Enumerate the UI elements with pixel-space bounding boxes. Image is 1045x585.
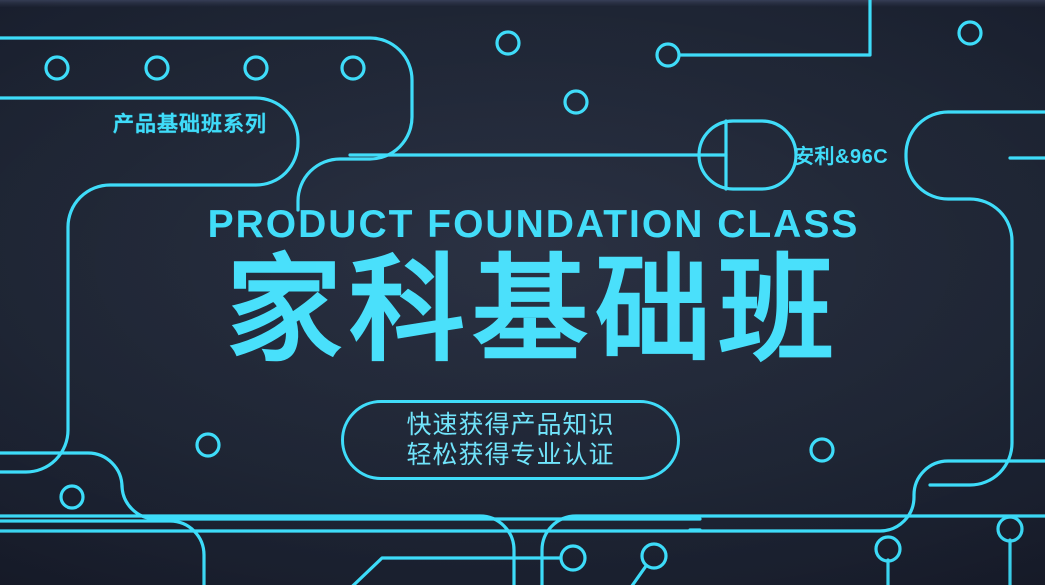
trace-bottom-left-branch	[0, 521, 204, 585]
subtitle-pill: 快速获得产品知识 轻松获得专业认证	[341, 400, 680, 480]
node-circle	[565, 91, 587, 113]
brand-label: 安利&96C	[794, 140, 888, 169]
mouse-icon-body	[699, 121, 796, 189]
series-label: 产品基础班系列	[113, 108, 267, 138]
subtitle-line-1: 快速获得产品知识	[406, 410, 614, 441]
trace-top-elbow	[680, 0, 870, 55]
node-circle	[959, 22, 981, 44]
top-edge-sheen	[0, 0, 1045, 7]
node-circle	[46, 57, 68, 79]
trace-bottom-diagonal	[338, 558, 560, 585]
node-circle-terminal	[876, 537, 900, 561]
node-circle	[245, 57, 267, 79]
node-circle-elbow	[657, 44, 679, 66]
node-circle	[497, 32, 519, 54]
node-circle-terminal	[998, 517, 1022, 541]
trace-bottom-center-bracket	[0, 516, 514, 585]
trace-bottom-diagonal-2	[622, 566, 646, 585]
node-circle	[811, 439, 833, 461]
node-circle-terminal	[642, 544, 666, 568]
poster-canvas: 产品基础班系列 安利&96C PRODUCT FOUNDATION CLASS …	[0, 0, 1045, 585]
main-headline: 家科基础班	[0, 248, 1045, 373]
subtitle-line-2: 轻松获得专业认证	[406, 440, 614, 471]
node-circle-terminal	[561, 546, 585, 570]
node-circle	[342, 57, 364, 79]
trace-bottom-right-bracket	[542, 516, 1045, 585]
node-circle	[61, 486, 83, 508]
node-circle	[197, 434, 219, 456]
english-subtitle: PRODUCT FOUNDATION CLASS	[0, 203, 1045, 247]
node-circle	[146, 57, 168, 79]
